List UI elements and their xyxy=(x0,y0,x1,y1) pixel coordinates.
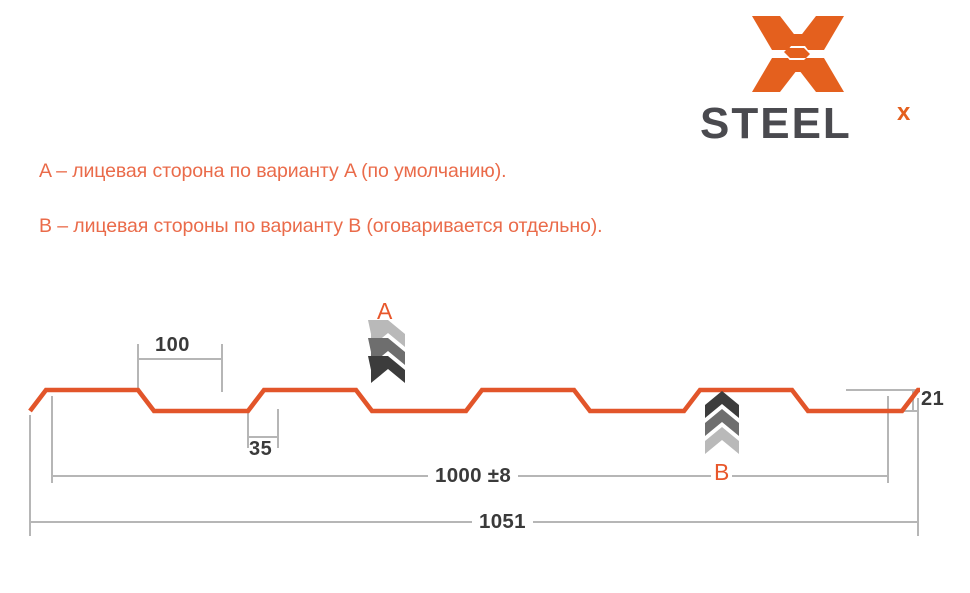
marker-label-a: A xyxy=(377,298,392,325)
profile-technical-drawing xyxy=(0,0,970,593)
dimension-label-pitch: 100 xyxy=(155,334,190,357)
marker-label-b: B xyxy=(711,459,732,486)
dimension-label-working-width: 1000 ±8 xyxy=(428,464,518,488)
dimension-label-valley-width: 35 xyxy=(249,438,272,461)
dimension-label-rib-height: 21 xyxy=(921,388,944,411)
dimension-label-total-width: 1051 xyxy=(472,510,533,534)
sheet-profile-polyline xyxy=(30,390,920,411)
marker-b-chevrons xyxy=(705,391,739,454)
dimension-lines-group xyxy=(30,344,918,536)
marker-a-chevrons xyxy=(368,320,405,383)
